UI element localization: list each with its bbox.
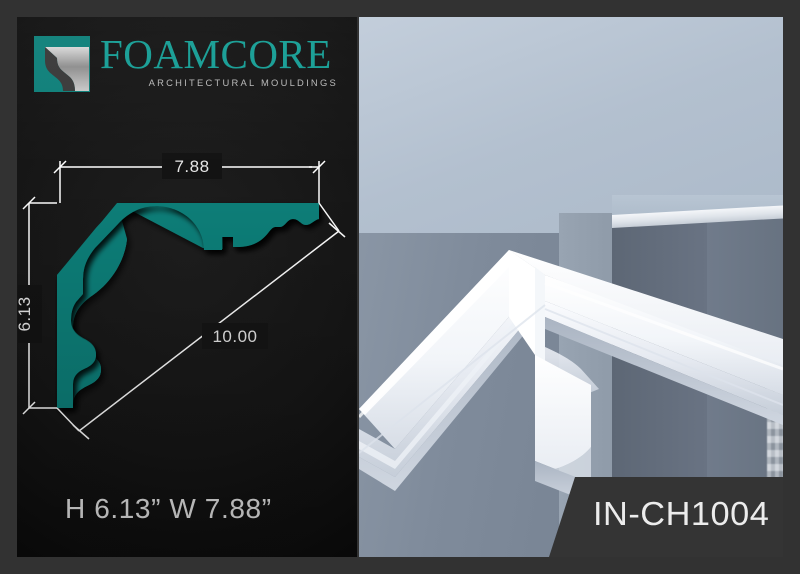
product-code: IN-CH1004 xyxy=(593,495,769,533)
spec-footer: H 6.13” W 7.88” xyxy=(17,461,357,557)
brand-tagline: ARCHITECTURAL MOULDINGS xyxy=(100,77,340,88)
brand-name: FOAMCORE xyxy=(100,32,340,76)
product-code-banner: IN-CH1004 xyxy=(549,477,783,557)
dimension-label-height: 6.13 xyxy=(17,296,34,331)
brand-logo: FOAMCORE ARCHITECTURAL MOULDINGS xyxy=(34,34,339,106)
crown-moulding-profile-icon xyxy=(34,36,90,92)
dimension-label-face: 10.00 xyxy=(212,327,257,346)
product-spec-card: FOAMCORE ARCHITECTURAL MOULDINGS xyxy=(0,0,800,574)
spec-panel: FOAMCORE ARCHITECTURAL MOULDINGS xyxy=(17,17,357,557)
profile-drawing: 7.88 6.13 10.00 xyxy=(17,135,357,465)
brand-wordmark: FOAMCORE ARCHITECTURAL MOULDINGS xyxy=(100,32,340,88)
dimension-label-width: 7.88 xyxy=(174,157,209,176)
product-photo: IN-CH1004 xyxy=(359,17,783,557)
dimension-summary: H 6.13” W 7.88” xyxy=(17,493,272,525)
